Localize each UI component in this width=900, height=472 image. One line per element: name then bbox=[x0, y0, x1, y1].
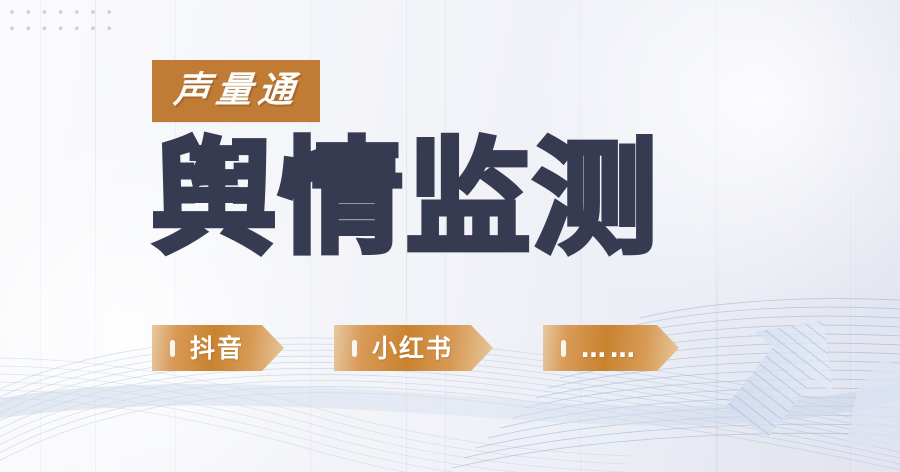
bar-marker-icon bbox=[561, 340, 566, 357]
platform-tag-label: 小红书 bbox=[372, 336, 453, 361]
brand-badge-label: 声量通 bbox=[172, 73, 302, 109]
platform-tag-label: 抖音 bbox=[190, 336, 244, 361]
bar-marker-icon bbox=[352, 340, 357, 357]
brand-badge: 声量通 bbox=[152, 60, 320, 122]
platform-tag-row: 抖音 小红书 …… bbox=[152, 325, 679, 371]
platform-tag-douyin[interactable]: 抖音 bbox=[152, 325, 284, 371]
platform-tag-xiaohongshu[interactable]: 小红书 bbox=[334, 325, 493, 371]
banner-content: 声量通 舆情监测 抖音 小红书 …… bbox=[152, 0, 852, 472]
platform-tag-more[interactable]: …… bbox=[543, 325, 679, 371]
bar-marker-icon bbox=[170, 340, 175, 357]
page-title: 舆情监测 bbox=[152, 134, 660, 264]
platform-tag-label: …… bbox=[581, 336, 639, 361]
banner-root: 声量通 舆情监测 抖音 小红书 …… bbox=[0, 0, 900, 472]
